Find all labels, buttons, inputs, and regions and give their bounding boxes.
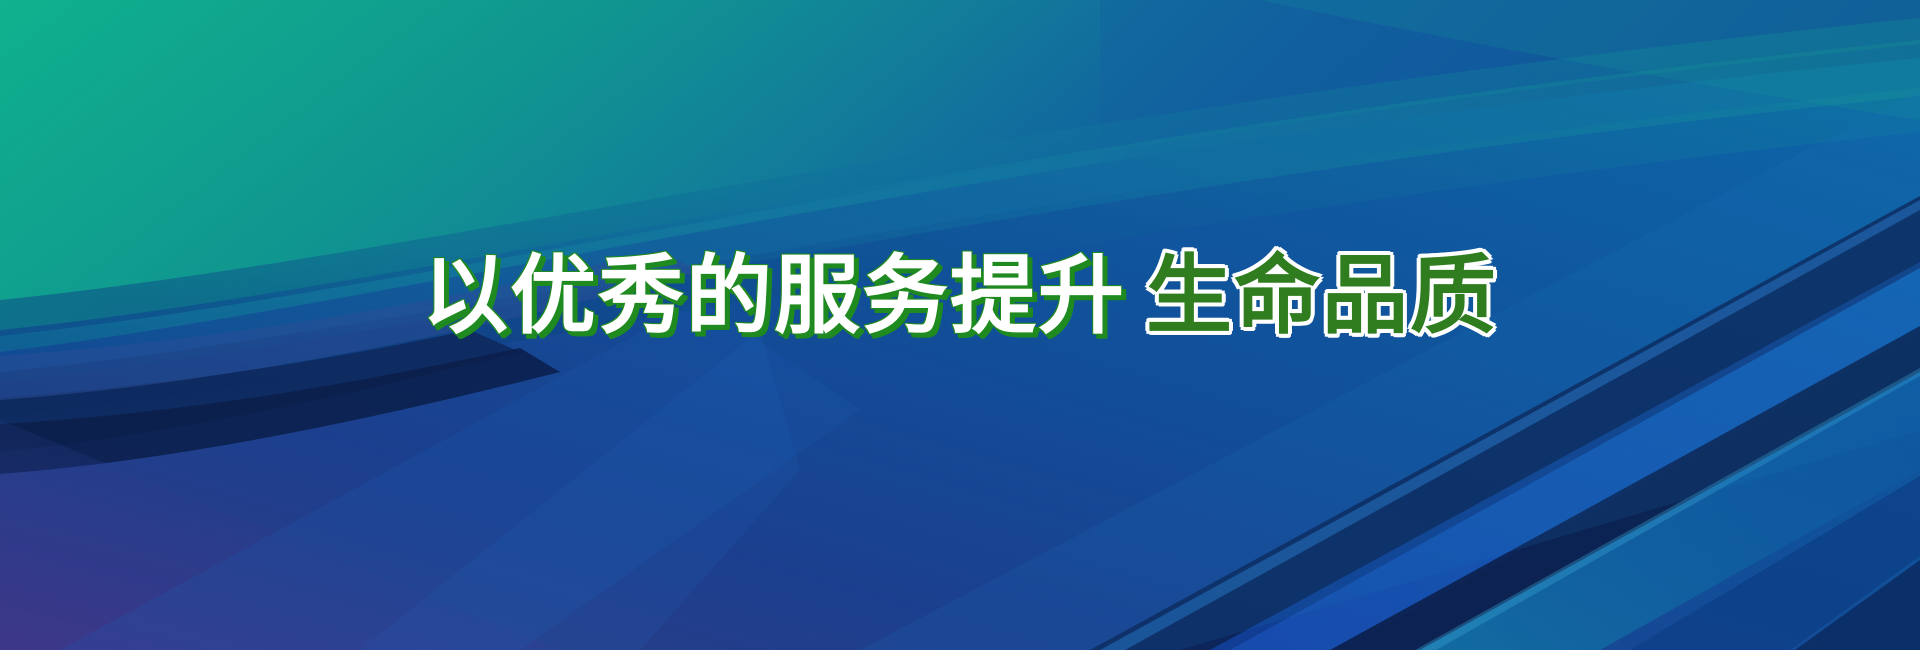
slogan-segment-white: 以优秀的服务提升 [422, 246, 1126, 346]
slogan-text: 以优秀的服务提升生命品质 [422, 253, 1498, 339]
hero-banner: 以优秀的服务提升生命品质 [0, 0, 1920, 650]
slogan-segment-green: 生命品质 [1146, 246, 1498, 346]
